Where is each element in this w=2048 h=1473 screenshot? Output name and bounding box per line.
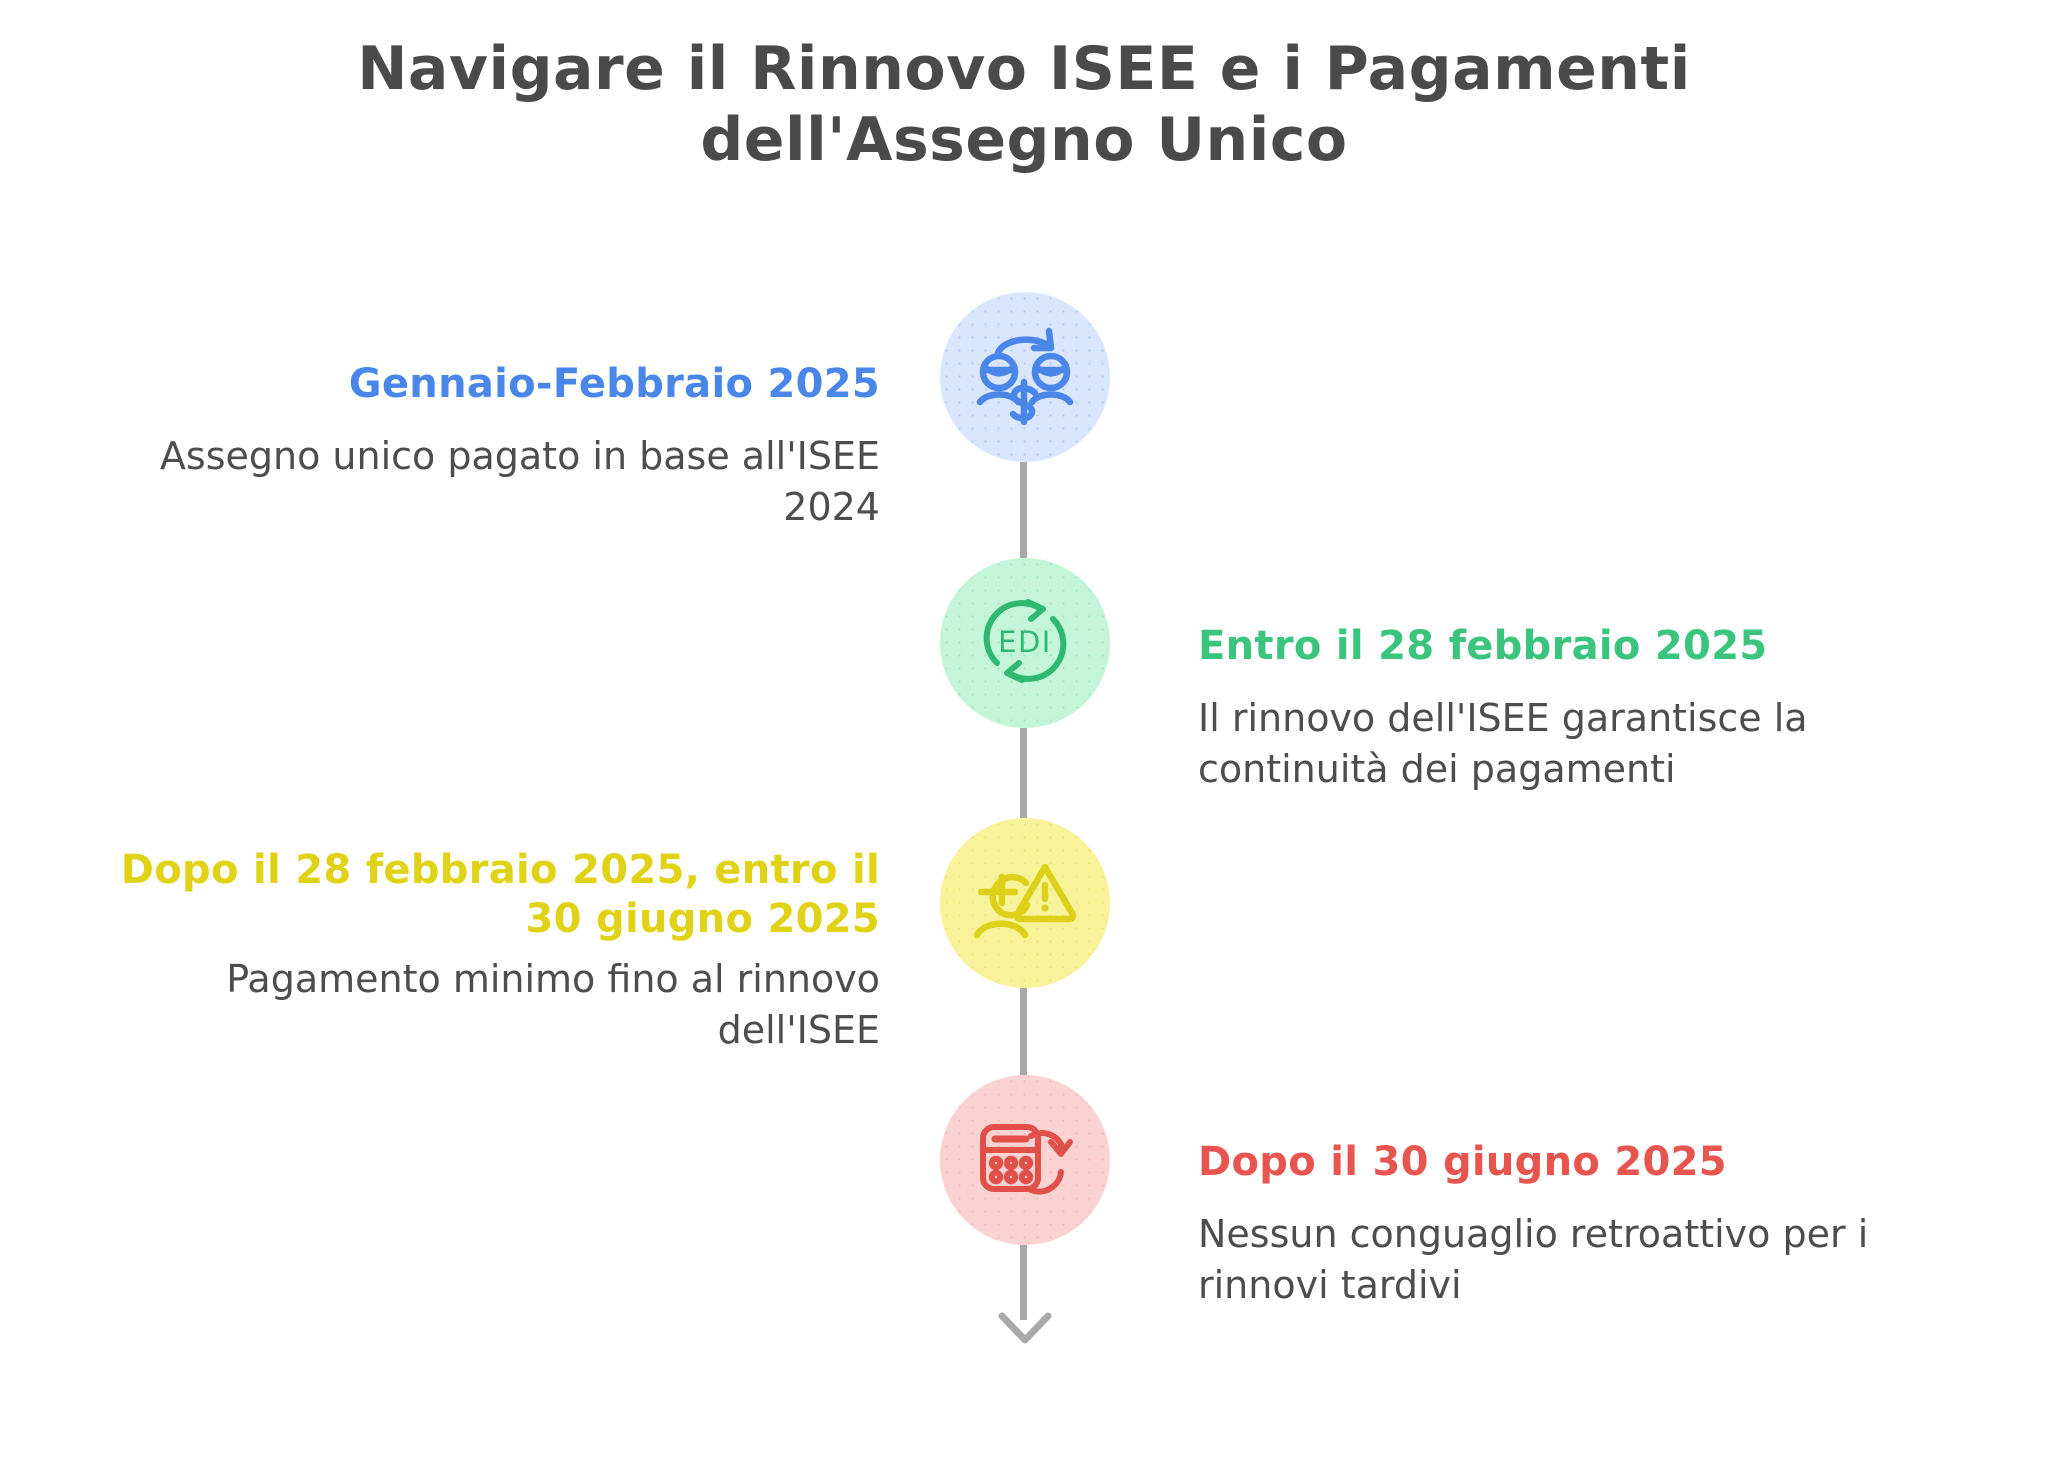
timeline-connector-3-4 <box>1020 988 1027 1075</box>
step-2-body: Il rinnovo dell'ISEE garantisce la conti… <box>1198 693 1958 795</box>
step-2-heading: Entro il 28 febbraio 2025 <box>1198 622 1958 671</box>
timeline-text-block-step-3: Dopo il 28 febbraio 2025, entro il 30 gi… <box>120 846 880 1055</box>
timeline-text-block-step-2: Entro il 28 febbraio 2025 Il rinnovo del… <box>1198 622 1958 795</box>
step-4-body: Nessun conguaglio retroattivo per i rinn… <box>1198 1209 1998 1311</box>
step-1-body: Assegno unico pagato in base all'ISEE 20… <box>60 431 880 533</box>
timeline-connector-2-3 <box>1020 728 1027 818</box>
step-4-heading: Dopo il 30 giugno 2025 <box>1198 1138 1998 1187</box>
edi-refresh-cycle-icon: EDI <box>969 585 1081 701</box>
timeline-node-step-2[interactable]: EDI <box>940 558 1110 728</box>
calculator-recalculate-icon <box>969 1102 1081 1218</box>
timeline-node-step-1[interactable] <box>940 292 1110 462</box>
timeline-node-step-4[interactable] <box>940 1075 1110 1245</box>
step-3-body: Pagamento minimo fino al rinnovo dell'IS… <box>120 954 880 1056</box>
timeline-text-block-step-1: Gennaio-Febbraio 2025 Assegno unico paga… <box>60 360 880 533</box>
timeline-connector-1-2 <box>1020 462 1027 558</box>
step-3-heading: Dopo il 28 febbraio 2025, entro il 30 gi… <box>120 846 880 944</box>
timeline-end-arrow <box>985 1290 1065 1360</box>
timeline-node-step-3[interactable] <box>940 818 1110 988</box>
euro-person-warning-icon <box>969 845 1081 961</box>
timeline-text-block-step-4: Dopo il 30 giugno 2025 Nessun conguaglio… <box>1198 1138 1998 1311</box>
step-1-heading: Gennaio-Febbraio 2025 <box>60 360 880 409</box>
svg-text:EDI: EDI <box>998 625 1052 659</box>
money-transfer-people-icon <box>969 319 1081 435</box>
